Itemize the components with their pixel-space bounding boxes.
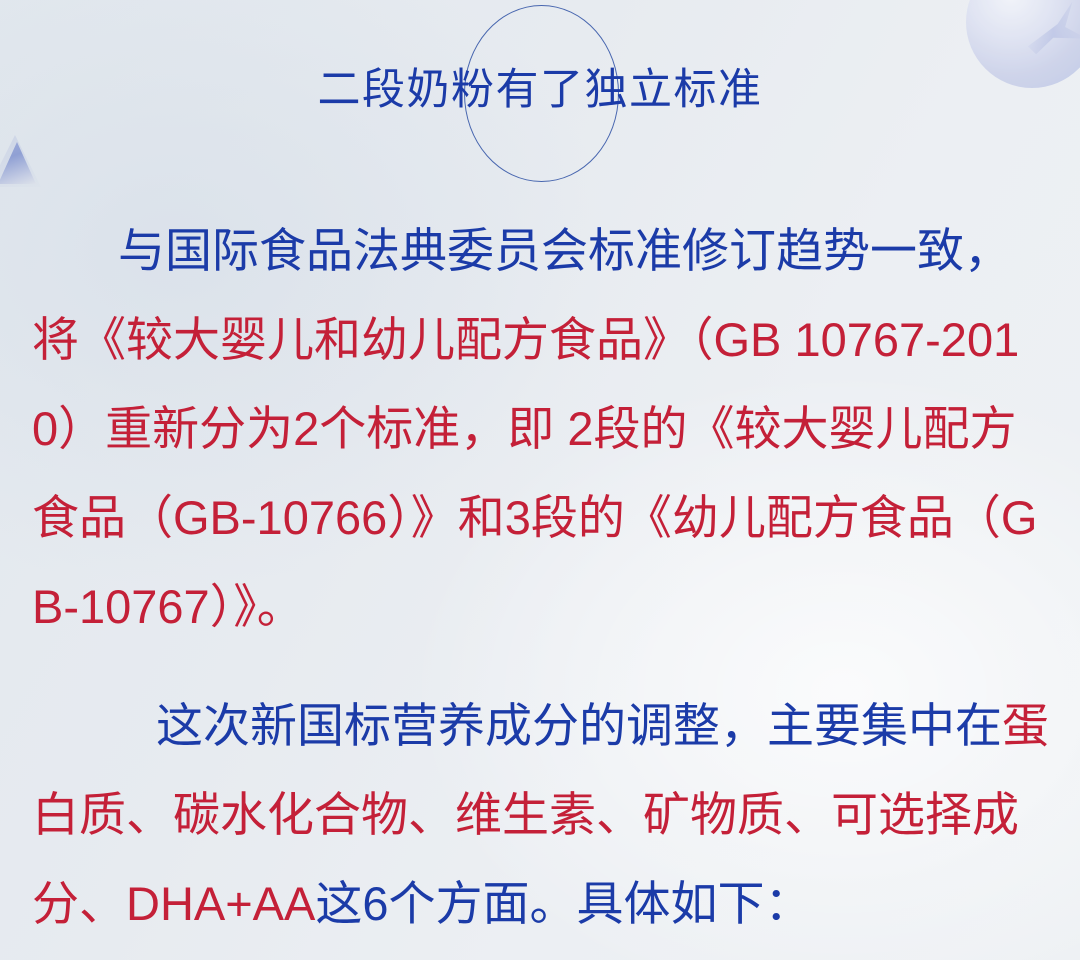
paragraph-1-segment-1: 与国际食品法典委员会标准修订趋势一致， [118,224,1011,277]
page-title: 二段奶粉有了独立标准 [0,62,1080,118]
paragraph-2: 这次新国标营养成分的调整，主要集中在蛋白质、碳水化合物、维生素、矿物质、可选择成… [32,681,1052,948]
body-copy: 与国际食品法典委员会标准修订趋势一致，将《较大婴儿和幼儿配方食品》（GB 107… [32,206,1052,948]
paragraph-1-segment-2: 将《较大婴儿和幼儿配方食品》（GB 10767-2010）重新分为2个标准，即 … [32,313,1037,633]
paragraph-2-segment-3: 这6个方面。具体如下： [315,877,811,930]
paragraph-1: 与国际食品法典委员会标准修订趋势一致，将《较大婴儿和幼儿配方食品》（GB 107… [32,206,1052,651]
slide-canvas: 二段奶粉有了独立标准 与国际食品法典委员会标准修订趋势一致，将《较大婴儿和幼儿配… [0,0,1080,960]
paragraph-2-segment-1: 这次新国标营养成分的调整，主要集中在 [156,699,1002,752]
